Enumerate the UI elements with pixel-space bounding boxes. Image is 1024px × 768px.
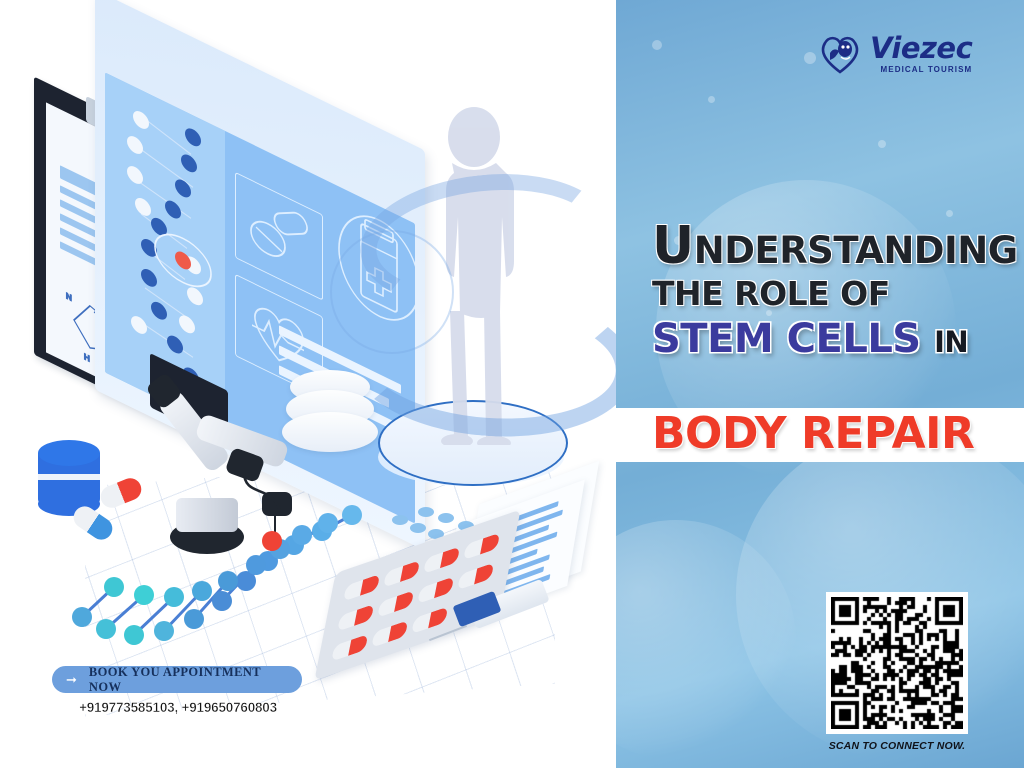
jar-lid — [38, 440, 100, 466]
contact-phone-numbers[interactable]: +919773585103, +919650760803 — [52, 700, 304, 715]
brand-logo[interactable]: Viezec MEDICAL TOURISM — [818, 28, 988, 80]
body-scan-ring-thin — [330, 230, 454, 354]
headline-line-2: THE ROLE OF — [652, 278, 1002, 310]
headline-line-4: BODY REPAIR — [652, 412, 974, 456]
logo-name: Viezec — [870, 34, 972, 63]
qr-canvas — [831, 597, 963, 729]
headline-line-1: UNDERSTANDING — [652, 222, 1002, 272]
bokeh-dot-3 — [804, 52, 816, 64]
headline-accent-stem-cells: STEM CELLS — [652, 316, 921, 362]
logo-tagline: MEDICAL TOURISM — [870, 66, 972, 74]
qr-code-icon[interactable] — [826, 592, 968, 734]
heart-embryo-icon — [818, 33, 862, 75]
cta-block: ➞ BOOK YOU APPOINTMENT NOW +919773585103… — [52, 666, 352, 715]
bokeh-dot-2 — [708, 96, 715, 103]
book-appointment-button[interactable]: ➞ BOOK YOU APPOINTMENT NOW — [52, 666, 302, 693]
bokeh-dot-1 — [652, 40, 662, 50]
bokeh-dot-4 — [878, 140, 886, 148]
headline-block: UNDERSTANDING THE ROLE OF STEM CELLS IN — [652, 222, 1002, 362]
qr-caption: SCAN TO CONNECT NOW. — [826, 740, 968, 752]
book-appointment-label: BOOK YOU APPOINTMENT NOW — [89, 665, 288, 695]
molecule-atom-n3: N — [66, 291, 72, 303]
molecule-atom-h2: H — [84, 351, 90, 363]
logo-text-block: Viezec MEDICAL TOURISM — [870, 34, 972, 74]
bokeh-dot-6 — [946, 210, 953, 217]
promotional-banner: NH N N H N H — [0, 0, 1024, 768]
illustration-panel: NH N N H N H — [0, 0, 616, 768]
arrow-right-icon: ➞ — [66, 673, 77, 686]
dna-edited-node — [262, 531, 282, 551]
headline-line-3-tail: IN — [934, 325, 968, 359]
jar-band — [38, 474, 100, 480]
headline-line-1-rest: NDERSTANDING — [694, 229, 1018, 272]
headline-dropcap: U — [652, 216, 694, 276]
qr-block: SCAN TO CONNECT NOW. — [826, 592, 978, 752]
petri-dish-bottom — [282, 412, 378, 452]
headline-line-3: STEM CELLS IN — [652, 320, 1002, 358]
